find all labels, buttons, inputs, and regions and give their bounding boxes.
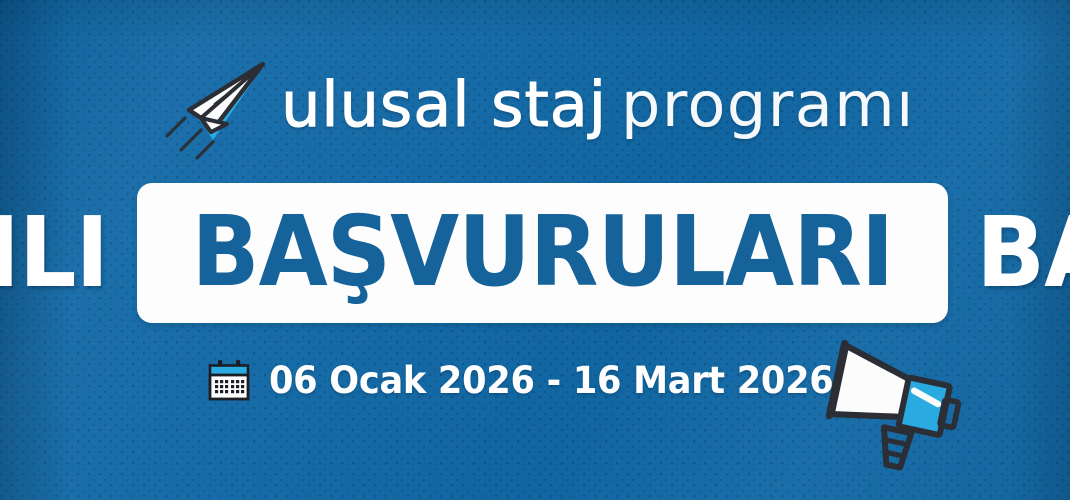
headline-highlight-text: BAŞVURULARI <box>192 203 894 300</box>
headline: 26 YILI BAŞVURULARI BAŞLA <box>0 183 1070 323</box>
date-range-text: 06 Ocak 2026 - 16 Mart 2026 <box>269 359 833 402</box>
promo-banner: ulusal stajprogramı 26 YILI BAŞVURULARI … <box>0 0 1070 500</box>
headline-highlight-box: BAŞVURULARI <box>137 183 948 323</box>
logo-word-light: programı <box>621 68 915 141</box>
logo-wordmark: ulusal stajprogramı <box>281 68 915 141</box>
headline-suffix: BAŞLA <box>976 183 1070 323</box>
logo-row: ulusal stajprogramı <box>0 52 1070 164</box>
logo-word-strong: ulusal staj <box>281 68 607 141</box>
headline-prefix: 26 YILI <box>0 183 108 323</box>
paper-plane-icon <box>155 54 275 162</box>
calendar-icon <box>207 359 251 401</box>
megaphone-icon <box>812 333 977 485</box>
